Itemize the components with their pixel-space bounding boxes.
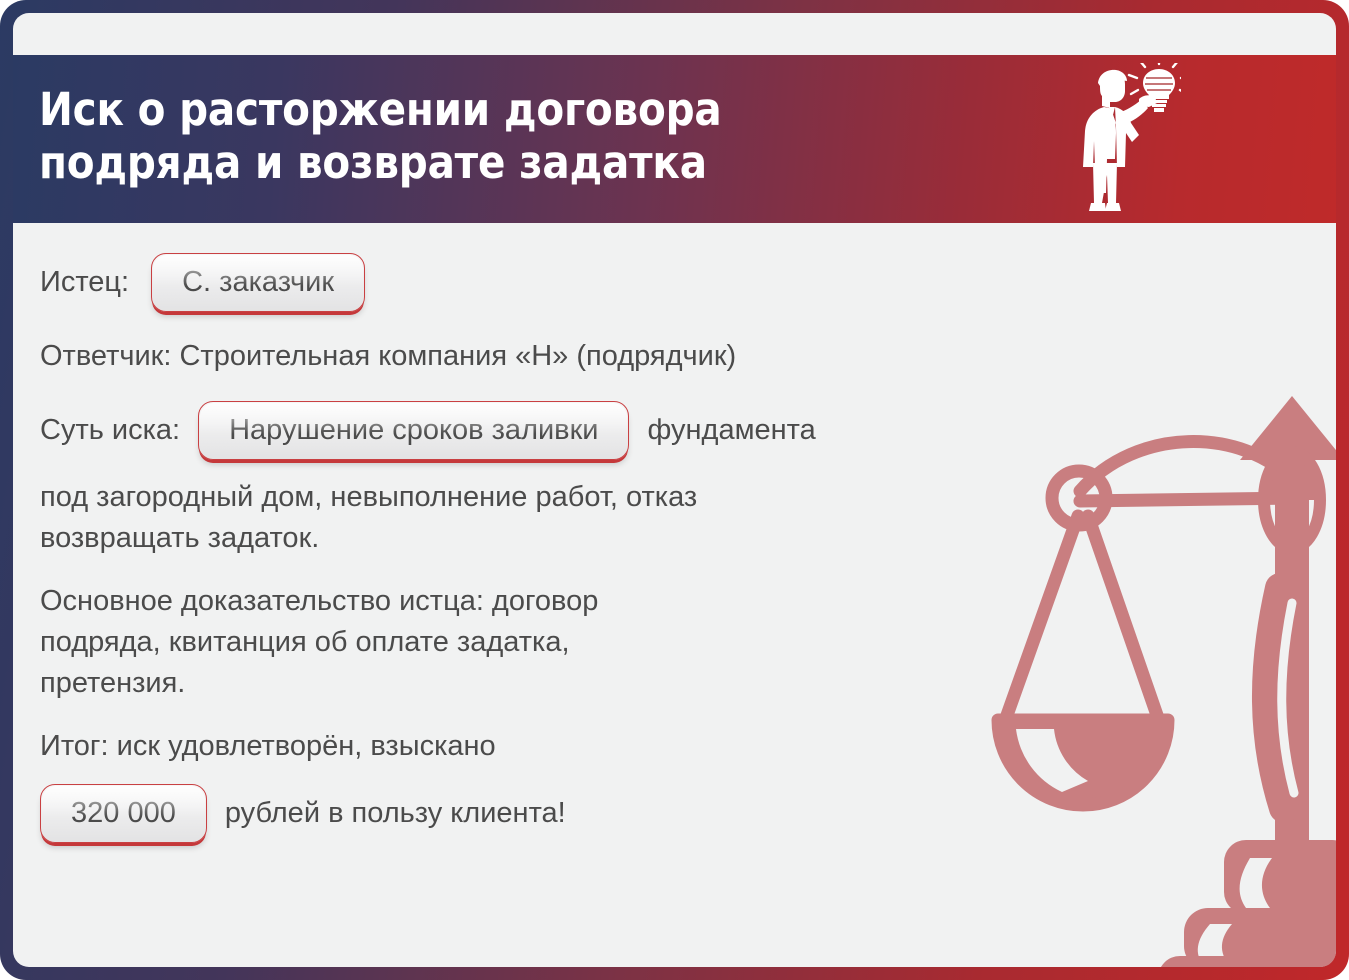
awarded-amount-badge[interactable]: 320 000 [40,784,207,843]
claim-label: Суть иска: [40,410,180,451]
case-card: Иск о расторжении договора подряда и воз… [0,0,1349,980]
result-amount-row: 320 000 рублей в пользу клиента! [40,784,1310,843]
defendant-text: Ответчик: Строительная компания «Н» (под… [40,336,736,377]
plaintiff-label: Истец: [40,262,129,303]
spacer [40,460,1310,477]
card-inner-surface: Иск о расторжении договора подряда и воз… [13,13,1336,967]
evidence-text: Основное доказательство истца: договор п… [40,581,1310,704]
claim-row: Суть иска: Нарушение сроков заливки фунд… [40,401,1310,460]
defendant-row: Ответчик: Строительная компания «Н» (под… [40,336,1310,377]
claim-subject-badge[interactable]: Нарушение сроков заливки [198,401,629,460]
plaintiff-badge[interactable]: С. заказчик [151,253,365,312]
claim-after-badge-text: фундамента [647,410,815,451]
result-after-badge-text: рублей в пользу клиента! [225,793,566,834]
spacer [40,312,1310,336]
plaintiff-row: Истец: С. заказчик [40,253,1310,312]
claim-continuation-text: под загородный дом, невыполнение работ, … [40,477,1310,559]
spacer [40,559,1310,581]
result-intro-text: Итог: иск удовлетворён, взыскано [40,726,1310,767]
header-band: Иск о расторжении договора подряда и воз… [13,55,1336,223]
case-details: Истец: С. заказчик Ответчик: Строительна… [13,223,1336,967]
page-title: Иск о расторжении договора подряда и воз… [39,83,839,189]
spacer [40,767,1310,784]
businessman-with-lightbulb-icon [1071,63,1181,218]
spacer [40,377,1310,401]
spacer [40,704,1310,726]
